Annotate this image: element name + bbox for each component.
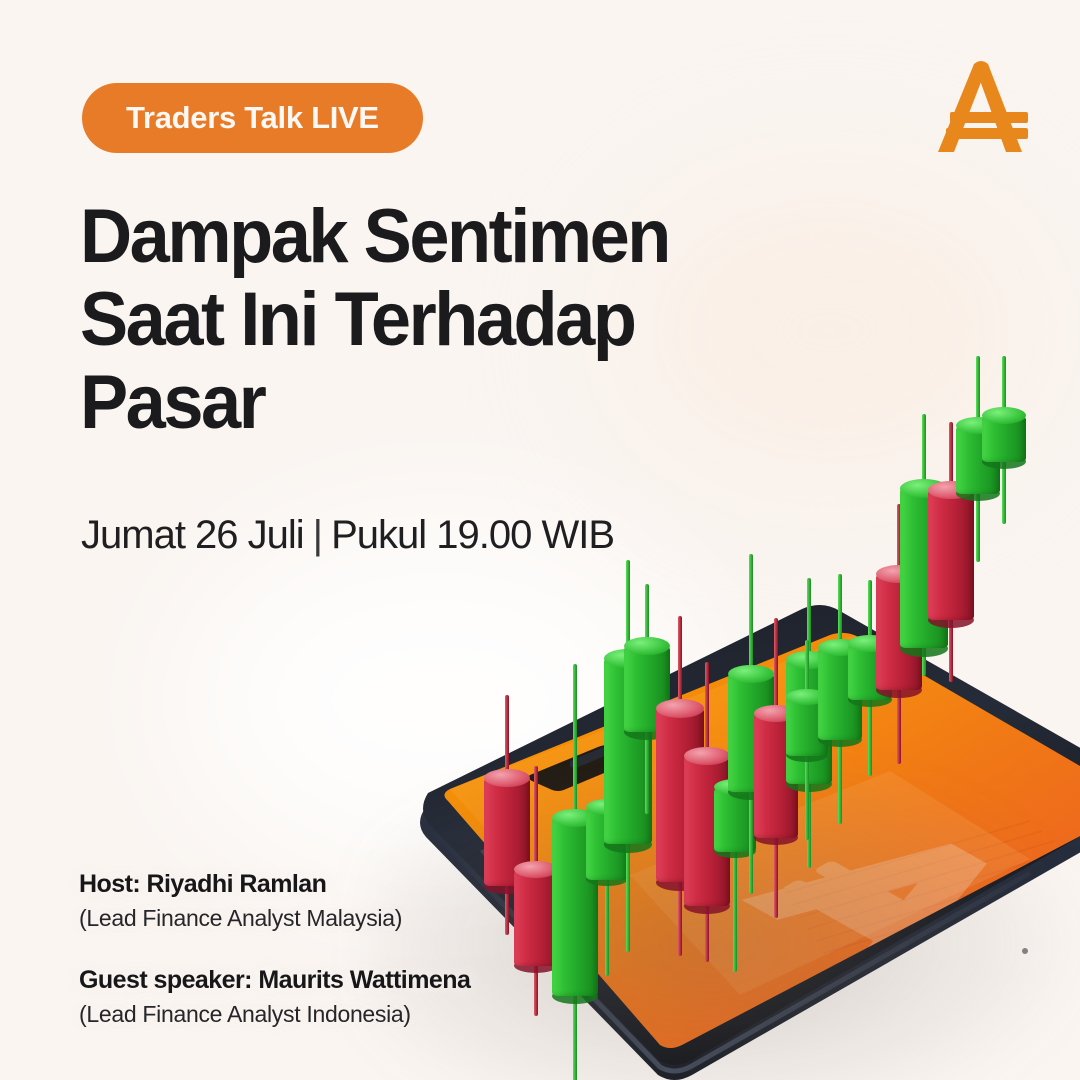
austral-a-logo-icon xyxy=(930,52,1040,162)
poster-canvas: Traders Talk LIVE Dampak Sentimen Saat I… xyxy=(0,0,1080,1080)
headline-line-2: Saat Ini Terhadap xyxy=(80,279,802,362)
phone-side-button xyxy=(480,827,534,861)
speaker-guest-role: (Lead Finance Analyst Indonesia) xyxy=(79,999,470,1030)
screen-hairlines xyxy=(785,821,1080,989)
schedule-date: Jumat 26 Juli xyxy=(81,513,304,557)
phone-side-button-2 xyxy=(538,853,584,883)
live-badge[interactable]: Traders Talk LIVE xyxy=(82,83,423,153)
schedule-line: Jumat 26 Juli|Pukul 19.00 WIB xyxy=(81,513,614,558)
speaker-host-name: Host: Riyadhi Ramlan xyxy=(79,868,470,901)
speaker-host-role: (Lead Finance Analyst Malaysia) xyxy=(79,903,470,934)
background-bloom-left xyxy=(180,520,700,880)
headline-line-3: Pasar xyxy=(80,362,802,445)
schedule-separator: | xyxy=(304,513,331,558)
phone-screen xyxy=(444,633,1080,1048)
phone-bezel xyxy=(423,605,1080,1065)
phone-side xyxy=(420,618,1080,1080)
phone-notch xyxy=(528,745,632,791)
phone-speaker-dot xyxy=(1022,948,1028,954)
live-badge-label: Traders Talk LIVE xyxy=(126,100,379,136)
speaker-guest-name: Guest speaker: Maurits Wattimena xyxy=(79,964,470,997)
screen-watermark-a-logo-icon xyxy=(742,812,1063,994)
speaker-list: Host: Riyadhi Ramlan (Lead Finance Analy… xyxy=(79,868,470,1060)
brand-logo[interactable] xyxy=(930,52,1040,162)
headline-line-1: Dampak Sentimen xyxy=(80,196,802,279)
phone-earpiece xyxy=(570,745,616,768)
page-title: Dampak Sentimen Saat Ini Terhadap Pasar xyxy=(80,196,802,444)
schedule-time: Pukul 19.00 WIB xyxy=(331,513,614,557)
phone-drop-shadow xyxy=(370,745,1080,1080)
phone-edge-highlight xyxy=(429,827,1030,1071)
speaker-host: Host: Riyadhi Ramlan (Lead Finance Analy… xyxy=(79,868,470,934)
speaker-guest: Guest speaker: Maurits Wattimena (Lead F… xyxy=(79,964,470,1030)
